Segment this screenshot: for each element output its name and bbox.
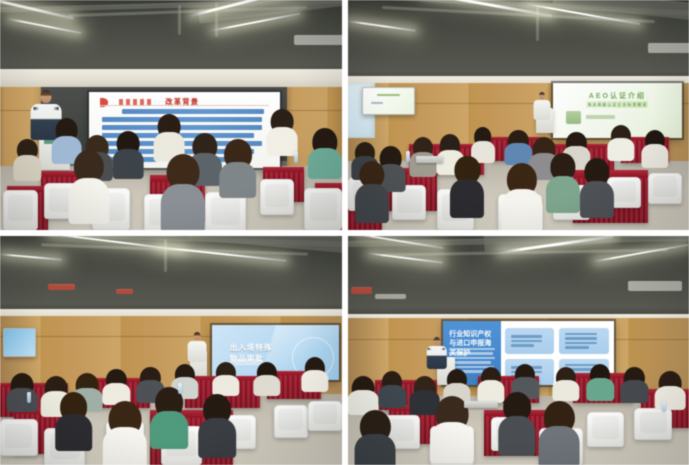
presenter-head xyxy=(539,92,545,99)
person-torso xyxy=(198,418,236,458)
wall-vent xyxy=(375,294,406,300)
person-torso xyxy=(355,184,389,223)
water-bottle xyxy=(27,392,31,403)
audience-member xyxy=(301,357,328,391)
box-text-line xyxy=(565,337,597,340)
audience-member xyxy=(498,392,536,456)
laptop xyxy=(464,401,498,408)
audience-member xyxy=(355,410,396,465)
person-torso xyxy=(501,189,542,230)
audience-member xyxy=(379,371,406,408)
water-bottle xyxy=(406,151,410,162)
emergency-sign xyxy=(351,287,371,294)
emergency-sign xyxy=(116,289,133,294)
audience-member xyxy=(355,161,389,223)
chair xyxy=(308,401,342,431)
photo-collage: 改革背景 xyxy=(0,0,689,465)
box-text-line xyxy=(511,335,543,338)
monitor-slide-line xyxy=(377,94,401,96)
chair xyxy=(274,405,308,437)
slide-subtitle-band: 海关高级认证企业标准解读 xyxy=(586,101,648,108)
chair xyxy=(260,179,294,215)
water-bottle xyxy=(294,152,298,163)
audience-member xyxy=(7,373,38,412)
ceiling-pipe-vertical xyxy=(164,239,167,272)
ceiling xyxy=(348,0,689,83)
audience-member xyxy=(580,158,614,218)
audience-member xyxy=(14,139,41,181)
person-torso xyxy=(546,176,580,213)
person-torso xyxy=(301,370,328,391)
person-torso xyxy=(267,127,298,156)
ceiling xyxy=(0,236,342,314)
ceiling-light xyxy=(594,244,688,263)
audience-area xyxy=(0,351,342,465)
audience-member xyxy=(553,367,580,401)
audience-member xyxy=(308,128,342,179)
person-torso xyxy=(219,162,257,199)
person-torso xyxy=(430,422,474,463)
laptop xyxy=(416,156,443,163)
photo-top-right: AEO认证介绍 海关高级认证企业标准解读 xyxy=(348,0,689,230)
monitor-slide-line xyxy=(371,102,383,104)
person-torso xyxy=(253,375,280,396)
person-torso xyxy=(539,426,580,465)
audience-member xyxy=(621,367,648,404)
audience-member xyxy=(55,392,93,452)
ceiling-light xyxy=(7,18,81,35)
photo-bottom-right: 行业知识产权与进口申报海关保护 xyxy=(348,236,689,465)
ceiling-light xyxy=(0,254,61,261)
box-text-line xyxy=(511,344,534,347)
person-torso xyxy=(14,155,41,181)
audience-member xyxy=(539,401,580,465)
audience-member xyxy=(450,156,484,218)
panel-top-right: AEO认证介绍 海关高级认证企业标准解读 xyxy=(345,0,689,233)
ceiling xyxy=(0,0,342,76)
box-text-line xyxy=(565,346,588,349)
person-torso xyxy=(587,378,614,401)
audience-member xyxy=(253,362,280,396)
audience-member xyxy=(68,150,109,224)
person-torso xyxy=(308,148,342,179)
person-torso xyxy=(450,179,484,218)
person-torso xyxy=(7,388,38,412)
wall-vent xyxy=(648,43,689,53)
ceiling xyxy=(348,236,689,318)
audience-member xyxy=(641,130,668,168)
audience-member xyxy=(267,109,298,156)
person-torso xyxy=(113,149,144,179)
person-torso xyxy=(103,427,147,465)
audience-member xyxy=(348,376,379,415)
chair xyxy=(587,412,625,446)
person-torso xyxy=(55,414,93,451)
audience-area xyxy=(0,124,342,230)
audience-member xyxy=(161,154,205,230)
uniform-epaulets xyxy=(33,107,59,111)
person-torso xyxy=(641,144,668,168)
person-torso xyxy=(580,181,614,218)
person-torso xyxy=(498,416,536,456)
presenter-head xyxy=(194,332,201,340)
box-text-line xyxy=(565,333,597,336)
box-text-line xyxy=(511,340,543,343)
slide-text-line xyxy=(122,109,264,114)
audience-member xyxy=(219,139,257,198)
audience-member xyxy=(150,387,188,449)
person-torso xyxy=(355,434,396,465)
person-torso xyxy=(655,386,686,410)
box-text-line xyxy=(565,342,597,345)
audience-member xyxy=(212,362,239,396)
panel-bottom-left: 出入境特殊物品审批 xyxy=(0,233,345,465)
person-torso xyxy=(379,385,406,408)
audience-member xyxy=(546,153,580,213)
photo-bottom-left: 出入境特殊物品审批 xyxy=(0,236,342,465)
person-torso xyxy=(621,380,648,403)
chair xyxy=(3,190,37,230)
wall-vent xyxy=(628,281,683,292)
panel-top-left: 改革背景 xyxy=(0,0,345,233)
water-bottle xyxy=(662,401,666,412)
audience-member xyxy=(587,364,614,401)
slide-subtitle: 海关高级认证企业标准解读 xyxy=(586,101,648,108)
ceiling-light xyxy=(348,20,416,32)
audience-member xyxy=(113,131,144,180)
person-torso xyxy=(553,380,580,401)
slide-divider xyxy=(100,105,269,106)
audience-member xyxy=(198,394,236,458)
chair xyxy=(304,188,342,230)
audience-member xyxy=(103,401,147,465)
person-torso xyxy=(161,184,205,230)
emergency-sign xyxy=(48,284,75,290)
soffit xyxy=(0,69,342,87)
chair xyxy=(0,419,38,456)
ceiling-pipe-vertical xyxy=(536,5,539,41)
water-bottle xyxy=(178,383,182,394)
audience-member xyxy=(655,371,686,410)
ceiling-pipe-vertical xyxy=(178,5,181,35)
photo-top-left: 改革背景 xyxy=(0,0,342,230)
audience-member xyxy=(501,163,542,230)
slide-title: AEO认证介绍 xyxy=(553,91,683,101)
presenter-head xyxy=(41,90,52,103)
audience-area xyxy=(348,351,689,465)
audience-area xyxy=(348,110,689,230)
panel-bottom-right: 行业知识产权与进口申报海关保护 xyxy=(345,233,689,465)
chair xyxy=(634,408,672,440)
audience-member xyxy=(607,125,634,161)
person-torso xyxy=(150,411,188,449)
chair xyxy=(648,173,682,204)
presenter-head xyxy=(433,337,440,346)
wall-vent xyxy=(294,35,342,45)
person-torso xyxy=(68,178,109,224)
